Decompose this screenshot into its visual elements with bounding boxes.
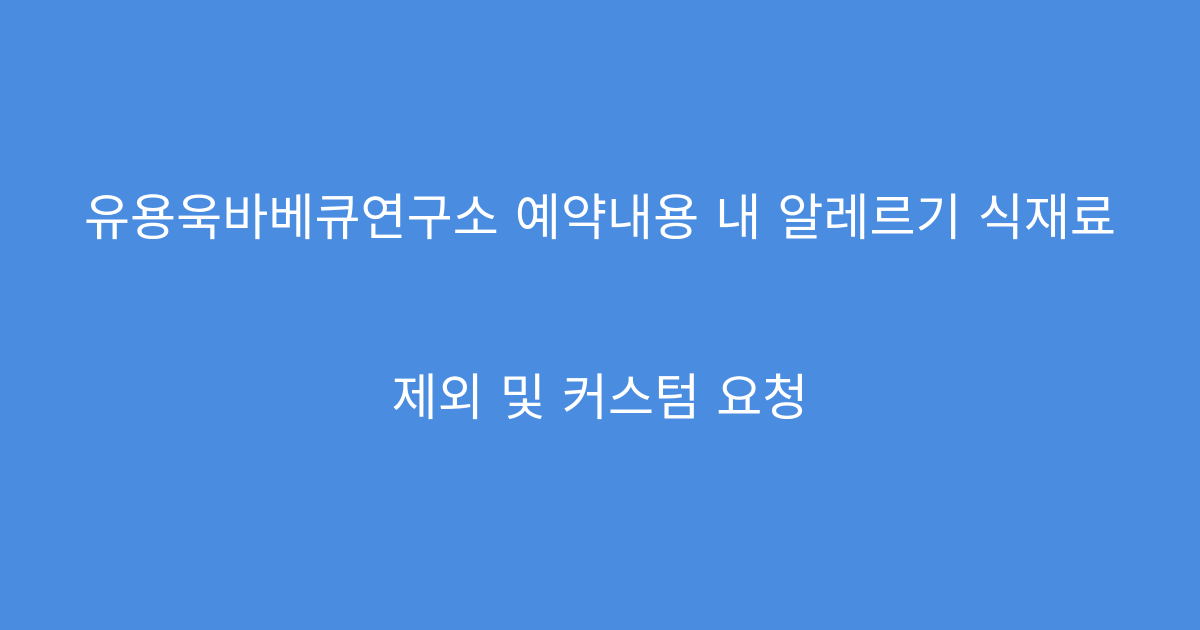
headline-line-2: 제외 및 커스텀 요청 — [54, 368, 1146, 428]
headline-block: 유용욱바베큐연구소 예약내용 내 알레르기 식재료 제외 및 커스텀 요청 — [0, 68, 1200, 548]
og-card: 유용욱바베큐연구소 예약내용 내 알레르기 식재료 제외 및 커스텀 요청 — [0, 0, 1200, 630]
headline-line-1: 유용욱바베큐연구소 예약내용 내 알레르기 식재료 — [54, 188, 1146, 248]
page-title: 유용욱바베큐연구소 예약내용 내 알레르기 식재료 제외 및 커스텀 요청 — [54, 68, 1146, 548]
